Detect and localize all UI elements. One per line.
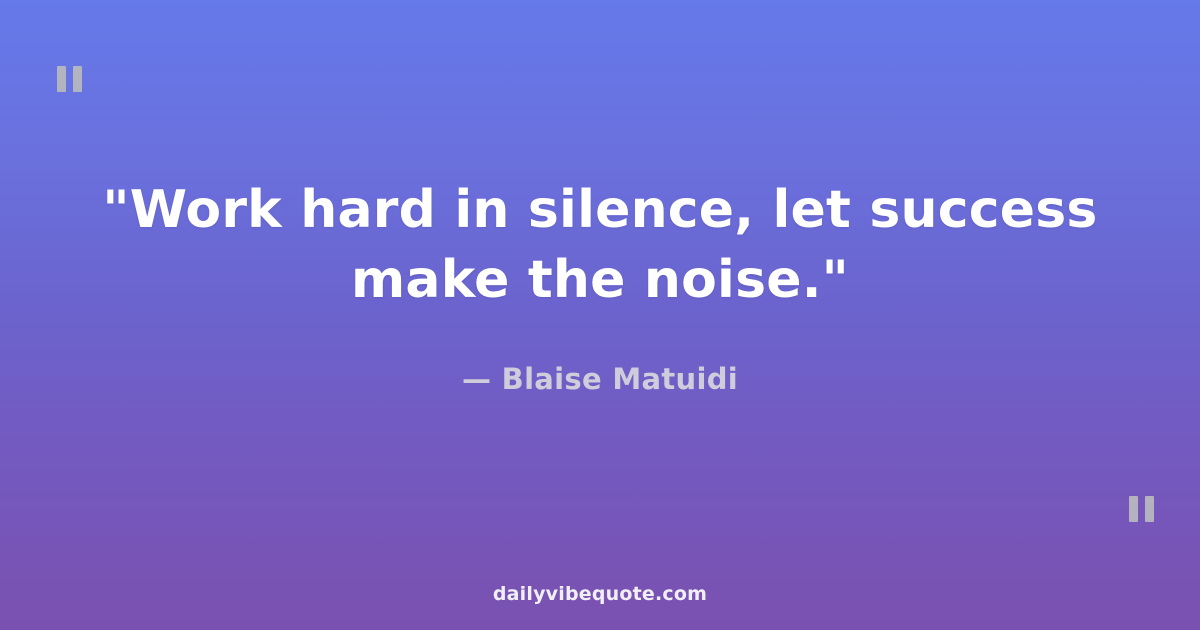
- quote-content: "Work hard in silence, let success make …: [0, 175, 1200, 397]
- quote-mark-bar-right: [73, 66, 82, 92]
- quote-mark-bar-left: [1129, 496, 1138, 522]
- quote-attribution: — Blaise Matuidi: [462, 315, 738, 397]
- quote-card: "Work hard in silence, let success make …: [0, 0, 1200, 630]
- quote-text: "Work hard in silence, let success make …: [58, 175, 1143, 315]
- close-quote-icon: [1129, 496, 1154, 522]
- site-name: dailyvibequote.com: [493, 583, 707, 605]
- footer: dailyvibequote.com: [0, 583, 1200, 605]
- quote-mark-bar-left: [57, 66, 66, 92]
- quote-mark-bar-right: [1145, 496, 1154, 522]
- open-quote-icon: [57, 66, 82, 92]
